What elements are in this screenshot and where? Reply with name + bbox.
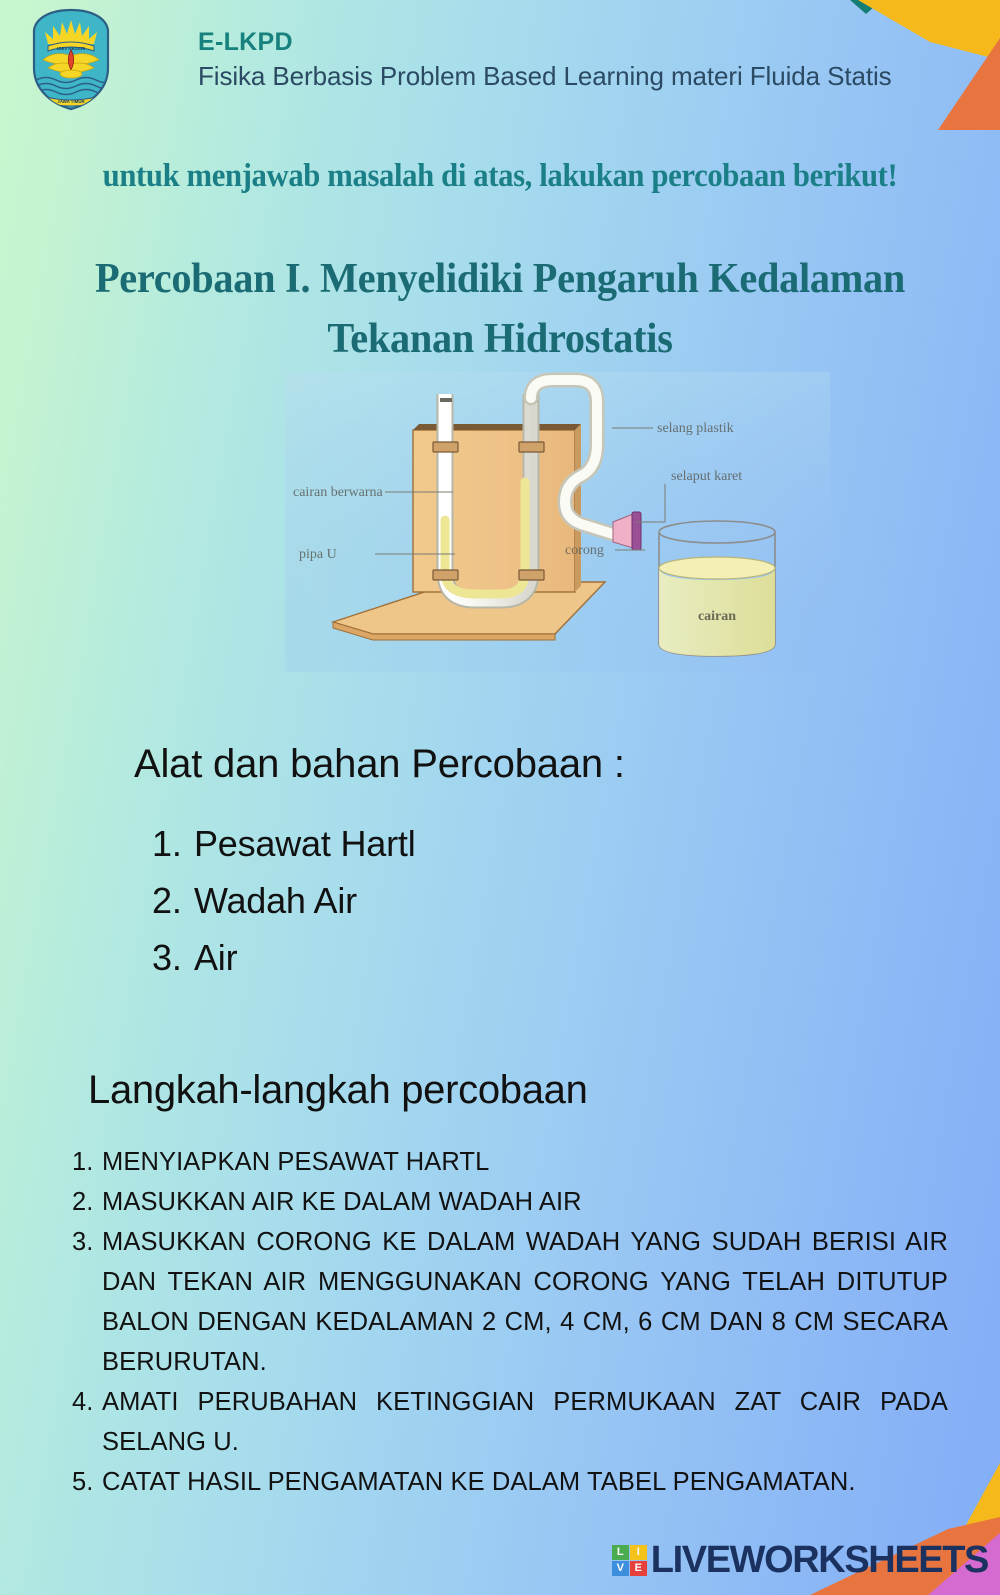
list-item-label: Pesawat Hartl (194, 815, 416, 872)
page-header: UNIV NEGERI JAWA TIMUR (0, 0, 1000, 120)
list-item-number: 4. (72, 1382, 102, 1462)
app-subtitle: Fisika Berbasis Problem Based Learning m… (198, 59, 892, 94)
list-item-label: Air (194, 929, 237, 986)
list-item-number: 2. (72, 1182, 102, 1222)
steps-heading: Langkah-langkah percobaan (88, 1068, 588, 1113)
list-item: 1. MENYIAPKAN PESAWAT HARTL (72, 1142, 948, 1182)
liveworksheets-logo[interactable]: L I V E LIVEWORKSHEETS (612, 1538, 988, 1582)
header-text-block: E-LKPD Fisika Berbasis Problem Based Lea… (120, 27, 892, 94)
liveworksheets-wordmark: LIVEWORKSHEETS (651, 1541, 988, 1579)
logo-square-e: E (630, 1561, 647, 1576)
list-item-text: CATAT HASIL PENGAMATAN KE DALAM TABEL PE… (102, 1462, 948, 1502)
list-item-number: 1. (72, 1142, 102, 1182)
list-item-text: AMATI PERUBAHAN KETINGGIAN PERMUKAAN ZAT… (102, 1382, 948, 1462)
steps-list: 1. MENYIAPKAN PESAWAT HARTL 2. MASUKKAN … (72, 1142, 948, 1502)
materials-list: 1. Pesawat Hartl 2. Wadah Air 3. Air (152, 815, 752, 987)
diagram-label-funnel: corong (565, 543, 604, 558)
list-item: 5. CATAT HASIL PENGAMATAN KE DALAM TABEL… (72, 1462, 948, 1502)
logo-square-i: I (630, 1545, 647, 1560)
list-item: 2. MASUKKAN AIR KE DALAM WADAH AIR (72, 1182, 948, 1222)
list-item-text: MASUKKAN CORONG KE DALAM WADAH YANG SUDA… (102, 1222, 948, 1382)
logo-square-v: V (612, 1561, 629, 1576)
institution-logo: UNIV NEGERI JAWA TIMUR (28, 8, 114, 112)
list-item: 2. Wadah Air (152, 872, 752, 929)
app-title: E-LKPD (198, 27, 892, 57)
list-item: 1. Pesawat Hartl (152, 815, 752, 872)
svg-text:JAWA TIMUR: JAWA TIMUR (57, 99, 85, 104)
list-item-text: MENYIAPKAN PESAWAT HARTL (102, 1142, 948, 1182)
list-item: 4. AMATI PERUBAHAN KETINGGIAN PERMUKAAN … (72, 1382, 948, 1462)
logo-square-l: L (612, 1545, 629, 1560)
diagram-label-membrane: selaput karet (671, 469, 742, 484)
list-item: 3. MASUKKAN CORONG KE DALAM WADAH YANG S… (72, 1222, 948, 1382)
list-item-number: 3. (152, 929, 194, 986)
experiment-title: Percobaan I. Menyelidiki Pengaruh Kedala… (68, 250, 932, 369)
list-item: 3. Air (152, 929, 752, 986)
list-item-number: 3. (72, 1222, 102, 1382)
diagram-label-hose: selang plastik (657, 421, 734, 436)
list-item-label: Wadah Air (194, 872, 357, 929)
list-item-number: 2. (152, 872, 194, 929)
list-item-text: MASUKKAN AIR KE DALAM WADAH AIR (102, 1182, 948, 1222)
list-item-number: 1. (152, 815, 194, 872)
list-item-number: 5. (72, 1462, 102, 1502)
diagram-label-colored-liquid: cairan berwarna (293, 485, 384, 500)
liveworksheets-square-grid: L I V E (612, 1545, 647, 1576)
materials-heading: Alat dan bahan Percobaan : (134, 742, 625, 787)
call-to-action-heading: untuk menjawab masalah di atas, lakukan … (35, 158, 965, 195)
diagram-label-u-tube: pipa U (299, 547, 337, 562)
diagram-label-beaker-liquid: cairan (698, 609, 736, 624)
pesawat-hartl-diagram: cairan selang plastik selaput karet cair… (285, 372, 830, 672)
